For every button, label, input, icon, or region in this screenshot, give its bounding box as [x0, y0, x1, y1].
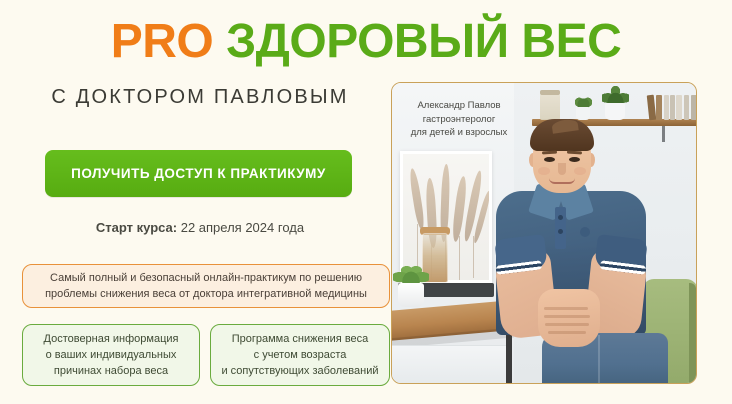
info-box-summary-text: Самый полный и безопасный онлайн-практик… — [45, 270, 367, 302]
nose — [558, 163, 566, 175]
info-box-summary-line-1: Самый полный и безопасный онлайн-практик… — [45, 270, 367, 286]
info-box-program: Программа снижения веса с учетом возраст… — [210, 324, 390, 386]
eye-left — [544, 157, 555, 162]
cheek-left — [538, 167, 550, 175]
finger-line — [548, 331, 586, 334]
info-box-program-line-3: и сопутствующих заболеваний — [221, 363, 378, 379]
doctor-audience: для детей и взрослых — [398, 126, 520, 140]
course-start-label: Старт курса: — [96, 220, 177, 235]
page-subtitle: С ДОКТОРОМ ПАВЛОВЫМ — [18, 86, 382, 109]
doctor-name: Александр Павлов — [398, 99, 520, 113]
info-box-diagnostics-line-2: о ваших индивидуальных — [44, 347, 179, 363]
info-box-summary-line-2: проблемы снижения веса от доктора интегр… — [45, 286, 367, 302]
jeans-seam — [598, 335, 600, 383]
shirt-placket — [555, 207, 566, 249]
finger-line — [544, 315, 590, 318]
page-title: PRO ЗДОРОВЫЙ ВЕС — [0, 16, 732, 68]
clasped-hands — [538, 289, 600, 347]
get-access-button[interactable]: ПОЛУЧИТЬ ДОСТУП К ПРАКТИКУМУ — [45, 150, 352, 197]
finger-line — [544, 307, 588, 310]
doctor-role: гастроэнтеролог — [398, 113, 520, 127]
doctor-photo-image: Александр Павлов гастроэнтеролог для дет… — [392, 83, 696, 383]
eye-right — [569, 157, 580, 162]
shirt-logo — [580, 227, 590, 237]
course-start-date: 22 апреля 2024 года — [181, 220, 304, 235]
info-box-diagnostics: Достоверная информация о ваших индивидуа… — [22, 324, 200, 386]
info-box-program-line-2: с учетом возраста — [221, 347, 378, 363]
finger-line — [545, 323, 589, 326]
info-box-diagnostics-line-3: причинах набора веса — [44, 363, 179, 379]
info-box-program-line-1: Программа снижения веса — [221, 331, 378, 347]
doctor-photo-card: Александр Павлов гастроэнтеролог для дет… — [391, 82, 697, 384]
info-box-program-text: Программа снижения веса с учетом возраст… — [221, 331, 378, 379]
title-pro-word: PRO — [111, 15, 214, 68]
promo-banner: PRO ЗДОРОВЫЙ ВЕС С ДОКТОРОМ ПАВЛОВЫМ ПОЛ… — [0, 0, 732, 404]
info-box-diagnostics-text: Достоверная информация о ваших индивидуа… — [44, 331, 179, 379]
title-main-word: ЗДОРОВЫЙ ВЕС — [226, 15, 621, 68]
mouth — [549, 178, 575, 184]
shirt-button — [558, 229, 563, 234]
cheek-right — [574, 167, 586, 175]
course-start-line: Старт курса: 22 апреля 2024 года — [18, 220, 382, 235]
doctor-caption: Александр Павлов гастроэнтеролог для дет… — [398, 99, 520, 140]
info-box-diagnostics-line-1: Достоверная информация — [44, 331, 179, 347]
shirt-button — [558, 215, 563, 220]
info-box-summary: Самый полный и безопасный онлайн-практик… — [22, 264, 390, 308]
